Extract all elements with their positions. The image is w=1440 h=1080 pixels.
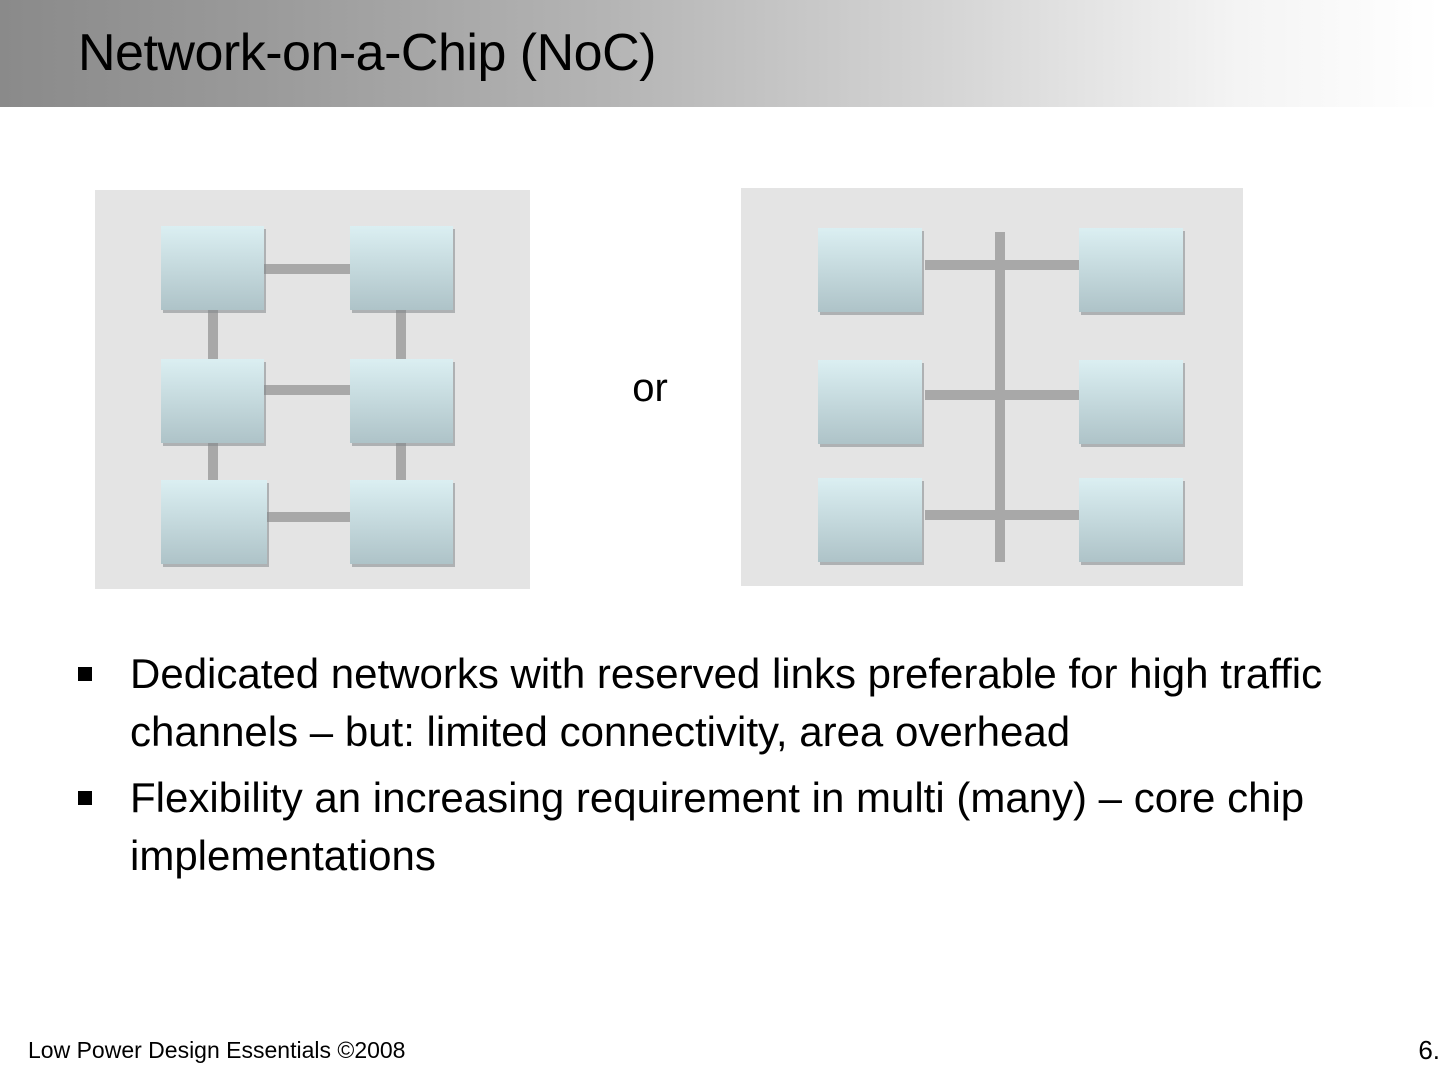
- bus-node-r2c2: [1079, 360, 1183, 444]
- mesh-node-r1c2: [350, 226, 453, 310]
- mesh-link-v-col1-b: [208, 439, 218, 485]
- bus-node-r1c2: [1079, 228, 1183, 312]
- bullet-text: Dedicated networks with reserved links p…: [130, 645, 1398, 761]
- mesh-node-r1c1: [161, 226, 264, 310]
- square-bullet-icon: [78, 791, 92, 805]
- diagram-connector-label: or: [600, 360, 700, 416]
- mesh-node-r3c1: [161, 480, 267, 564]
- bus-node-r1c1: [818, 228, 922, 312]
- mesh-link-v-col2-b: [396, 439, 406, 485]
- list-item: Dedicated networks with reserved links p…: [78, 645, 1398, 761]
- bullet-list: Dedicated networks with reserved links p…: [78, 645, 1398, 893]
- bus-bus-branch-row2: [925, 390, 1080, 400]
- footer-credit: Low Power Design Essentials ©2008: [28, 1036, 405, 1064]
- bus-node-r3c2: [1079, 478, 1183, 562]
- bus-node-r3c1: [818, 478, 922, 562]
- square-bullet-icon: [78, 667, 92, 681]
- mesh-node-r3c2: [350, 480, 453, 564]
- mesh-link-h-row2: [262, 385, 352, 395]
- footer-page-number: 6.: [1418, 1036, 1440, 1064]
- mesh-node-r2c1: [161, 359, 264, 443]
- mesh-node-r2c2: [350, 359, 453, 443]
- bus-bus-branch-row3: [925, 510, 1080, 520]
- bullet-text: Flexibility an increasing requirement in…: [130, 769, 1398, 885]
- bus-node-r2c1: [818, 360, 922, 444]
- mesh-link-h-row3: [262, 512, 352, 522]
- page-title: Network-on-a-Chip (NoC): [78, 22, 656, 84]
- mesh-link-v-col2-a: [396, 306, 406, 364]
- bus-bus-branch-row1: [925, 260, 1080, 270]
- list-item: Flexibility an increasing requirement in…: [78, 769, 1398, 885]
- mesh-link-h-row1: [262, 264, 352, 274]
- mesh-link-v-col1-a: [208, 306, 218, 364]
